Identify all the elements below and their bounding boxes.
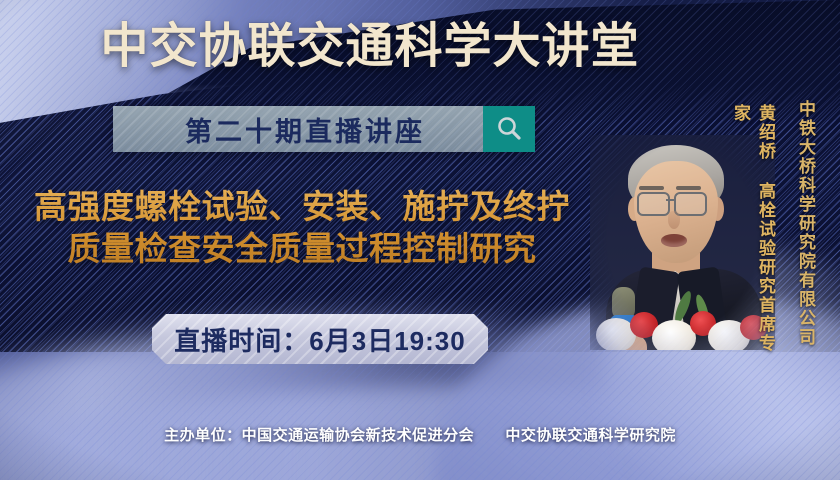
broadcast-time-badge: 直播时间：6月3日19:30 <box>152 314 488 364</box>
photo-eyebrow-left <box>639 186 664 190</box>
footer-institute-label: 中交协联交通科学研究院 <box>505 427 676 444</box>
subtitle-label: 第二十期直播讲座 <box>113 106 483 152</box>
photo-mouth <box>661 234 687 247</box>
lecture-headline: 高强度螺栓试验、安装、施拧及终拧 质量检查安全质量过程控制研究 <box>12 186 592 270</box>
search-icon-button[interactable] <box>483 106 535 152</box>
photo-glasses-right <box>674 192 707 216</box>
search-icon <box>494 114 524 144</box>
footer-organizer-label: 主办单位：中国交通运输协会新技术促进分会 <box>164 427 474 444</box>
speaker-credit-vertical: 黄绍桥 高栓试验研究首席专家 <box>728 104 778 354</box>
photo-glasses-left <box>637 192 670 216</box>
subtitle-band: 第二十期直播讲座 <box>113 106 535 152</box>
photo-nose <box>668 211 680 229</box>
headline-line-2: 质量检查安全质量过程控制研究 <box>12 228 592 270</box>
photo-glasses-bridge <box>666 199 674 201</box>
footer-organizers: 主办单位：中国交通运输协会新技术促进分会 中交协联交通科学研究院 <box>0 424 840 445</box>
page-title: 中交协联交通科学大讲堂 <box>0 18 840 76</box>
live-lecture-poster: 中交协联交通科学大讲堂 第二十期直播讲座 高强度螺栓试验、安装、施拧及终拧 质量… <box>0 0 840 480</box>
speaker-organization-vertical: 中铁大桥科学研究院有限公司 <box>793 100 818 350</box>
headline-line-1: 高强度螺栓试验、安装、施拧及终拧 <box>34 188 570 225</box>
photo-eyebrow-right <box>676 186 701 190</box>
